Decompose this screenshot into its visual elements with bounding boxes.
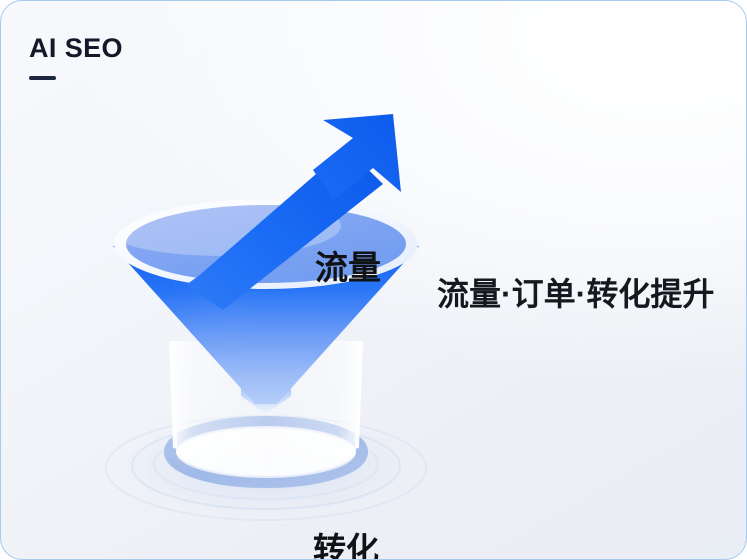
funnel-label-traffic: 流量: [315, 251, 381, 284]
brand-header: AI SEO: [29, 35, 123, 80]
funnel-illustration-svg: [91, 96, 441, 526]
funnel-illustration: 流量 转化: [91, 96, 441, 526]
title-underline-accent: [29, 76, 56, 80]
tagline-text: 流量·订单·转化提升: [437, 275, 714, 313]
funnel-label-conversion: 转化: [313, 533, 379, 560]
page-title: AI SEO: [29, 35, 123, 62]
promo-card: AI SEO 流量·订单·转化提升: [0, 0, 747, 560]
